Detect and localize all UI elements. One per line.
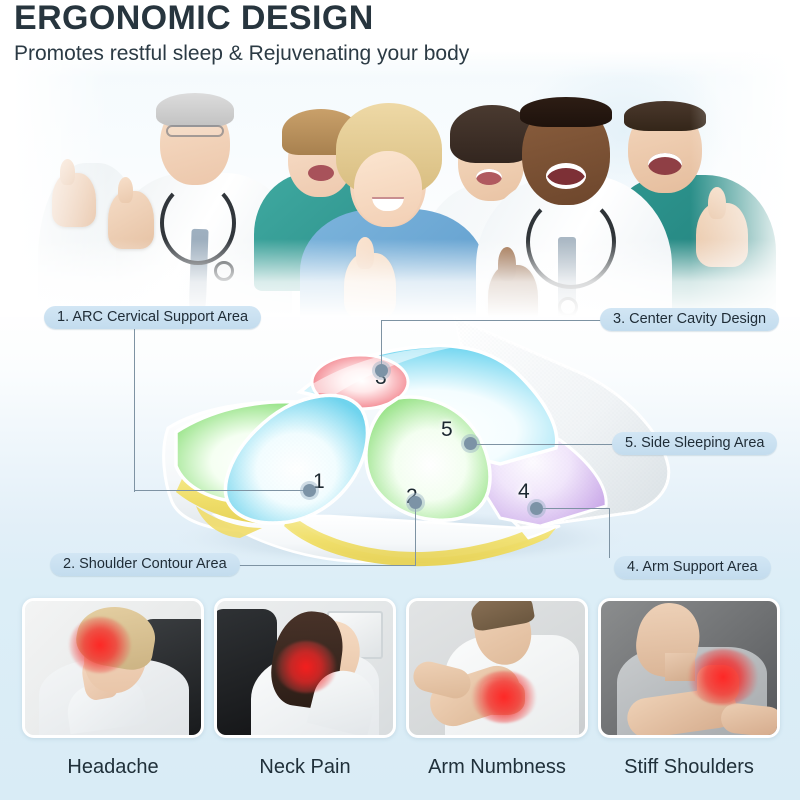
- open-mouth-laughing: [546, 163, 586, 189]
- symptom-card-stiff-shoulders[interactable]: [598, 598, 780, 738]
- pain-indicator-upper-arm: [471, 671, 537, 723]
- eyeglasses: [166, 125, 224, 137]
- leader-dot-2: [409, 496, 422, 509]
- hair: [156, 93, 234, 127]
- infographic-canvas: 1 2 3 4 5 1. ARC Cervical Support Area 2…: [0, 0, 800, 800]
- hero-photo-medical-team: [0, 52, 800, 317]
- hair: [520, 97, 612, 127]
- face-overlay: [354, 151, 422, 227]
- leader-line-3-horizontal: [382, 320, 602, 321]
- pain-indicator-forehead: [69, 617, 131, 673]
- callout-label-1[interactable]: 1. ARC Cervical Support Area: [44, 306, 261, 329]
- leader-line-4-horizontal: [538, 508, 610, 509]
- callout-label-3[interactable]: 3. Center Cavity Design: [600, 308, 779, 331]
- page-title: ERGONOMIC DESIGN: [14, 0, 784, 36]
- header: ERGONOMIC DESIGN Promotes restful sleep …: [14, 0, 784, 69]
- leader-line-1-vertical: [134, 329, 135, 492]
- callout-label-5[interactable]: 5. Side Sleeping Area: [612, 432, 777, 455]
- symptom-card-neck-pain[interactable]: [214, 598, 396, 738]
- symptom-cards: Headache Neck Pain Arm Numbness: [0, 588, 800, 800]
- leader-dot-3: [375, 364, 388, 377]
- zone-number-5: 5: [441, 418, 453, 442]
- leader-line-2-vertical: [415, 503, 416, 566]
- symptom-caption-neck-pain: Neck Pain: [214, 756, 396, 779]
- pain-indicator-shoulder: [687, 649, 759, 705]
- symptom-caption-headache: Headache: [22, 756, 204, 779]
- leader-line-3-vertical: [381, 320, 382, 370]
- leader-dot-1: [303, 484, 316, 497]
- leader-line-1-horizontal: [134, 490, 304, 491]
- callout-label-4[interactable]: 4. Arm Support Area: [614, 556, 771, 579]
- leader-line-4-vertical: [609, 508, 610, 558]
- leader-line-5-horizontal: [472, 444, 614, 445]
- symptom-card-headache[interactable]: [22, 598, 204, 738]
- page-subtitle: Promotes restful sleep & Rejuvenating yo…: [14, 39, 784, 69]
- zone-number-4: 4: [518, 480, 530, 504]
- pain-indicator-neck: [275, 641, 337, 693]
- callout-label-2[interactable]: 2. Shoulder Contour Area: [50, 553, 240, 576]
- leader-dot-5: [464, 437, 477, 450]
- leader-dot-4: [530, 502, 543, 515]
- symptom-caption-arm-numbness: Arm Numbness: [406, 756, 588, 779]
- leader-line-2-horizontal: [234, 565, 416, 566]
- symptom-caption-stiff-shoulders: Stiff Shoulders: [598, 756, 780, 779]
- symptom-card-arm-numbness[interactable]: [406, 598, 588, 738]
- thumb-finger: [118, 177, 133, 203]
